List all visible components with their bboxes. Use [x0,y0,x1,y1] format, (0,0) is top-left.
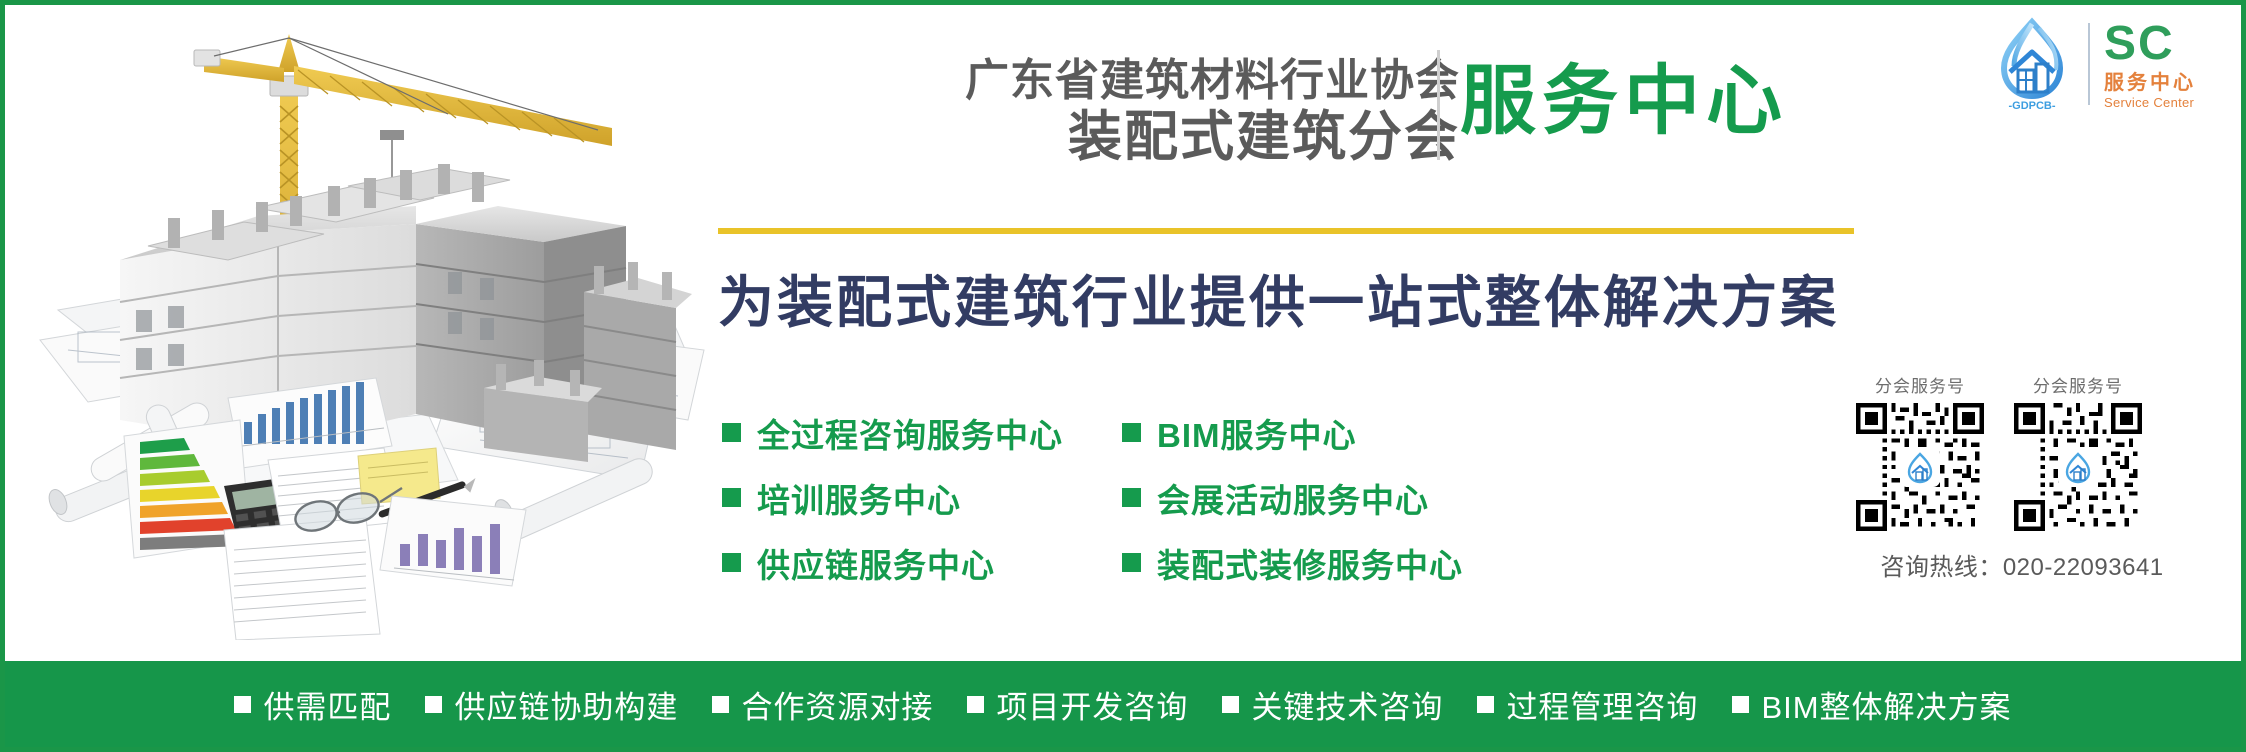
gdpcb-flame-house-logo-icon: -GDPCB- [1982,14,2082,114]
purple-chart-sheet [380,496,526,586]
service-item-label: 供应链服务中心 [757,539,995,587]
service-item-label: BIM服务中心 [1157,409,1357,457]
secondary-frame-tower [584,262,692,450]
footer-item-process-management[interactable]: 过程管理咨询 [1477,682,1698,727]
main-headline: 为装配式建筑行业提供一站式整体解决方案 [718,258,1839,339]
sc-english-label: Service Center [2104,96,2196,109]
square-bullet-icon [722,488,741,507]
service-item-bim[interactable]: BIM服务中心 [1122,409,1682,457]
square-bullet-icon [712,696,729,713]
gold-divider-rule [718,228,1854,234]
square-bullet-icon [1122,423,1141,442]
footer-item-label: 合作资源对接 [741,682,933,727]
title-vertical-divider [1437,50,1440,160]
qr-code-1[interactable] [1856,403,1984,531]
footer-item-label: 供应链协助构建 [454,682,678,727]
service-row: 培训服务中心 会展活动服务中心 [722,465,1782,530]
service-center-list: 全过程咨询服务中心 BIM服务中心 培训服务中心 会展活动服务中心 供应链服务中… [722,400,1782,595]
frame-top-border [0,0,2246,5]
square-bullet-icon [425,696,442,713]
association-title-block: 广东省建筑材料行业协会 装配式建筑分会 [840,58,1460,168]
service-item-full-process[interactable]: 全过程咨询服务中心 [722,409,1122,457]
logo-divider [2088,23,2090,105]
brand-logo-group: -GDPCB- SC 服务中心 Service Center [1982,14,2228,114]
frame-left-border [0,0,5,752]
footer-item-label: 过程管理咨询 [1506,682,1698,727]
footer-item-supply-demand-match[interactable]: 供需匹配 [234,682,391,727]
qr-code-2[interactable] [2014,403,2142,531]
footer-item-label: 关键技术咨询 [1251,682,1443,727]
square-bullet-icon [722,423,741,442]
service-item-label: 全过程咨询服务中心 [757,409,1063,457]
association-branch-name: 装配式建筑分会 [840,108,1460,167]
service-center-heading: 服务中心 [1460,58,1788,145]
square-bullet-icon [1732,696,1749,713]
construction-illustration [28,10,708,640]
sc-initials: SC [2104,20,2196,68]
service-item-training[interactable]: 培训服务中心 [722,474,1122,522]
service-item-prefab-decoration[interactable]: 装配式装修服务中心 [1122,539,1682,587]
promo-banner: 广东省建筑材料行业协会 装配式建筑分会 服务中心 为装配式建筑行业提供一站式整体… [0,0,2246,752]
frame-bottom-border [0,747,2246,752]
square-bullet-icon [1122,488,1141,507]
square-bullet-icon [967,696,984,713]
footer-items-list: 供需匹配 供应链协助构建 合作资源对接 项目开发咨询 关键技术咨询 过程管理咨询 [234,682,2011,727]
qr-images [1842,403,2202,531]
service-row: 全过程咨询服务中心 BIM服务中心 [722,400,1782,465]
service-row: 供应链服务中心 装配式装修服务中心 [722,530,1782,595]
frame-right-border [2241,0,2246,752]
service-item-exhibition[interactable]: 会展活动服务中心 [1122,474,1682,522]
service-item-label: 会展活动服务中心 [1157,474,1429,522]
footer-item-label: 供需匹配 [263,682,391,727]
square-bullet-icon [1477,696,1494,713]
qr-contact-block: 分会服务号 分会服务号 [1842,372,2202,582]
square-bullet-icon [1222,696,1239,713]
footer-item-label: 项目开发咨询 [996,682,1188,727]
service-item-supply-chain[interactable]: 供应链服务中心 [722,539,1122,587]
service-item-label: 培训服务中心 [757,474,961,522]
service-item-label: 装配式装修服务中心 [1157,539,1463,587]
qr-caption-2: 分会服务号 [2014,372,2142,397]
footer-service-bar: 供需匹配 供应链协助构建 合作资源对接 项目开发咨询 关键技术咨询 过程管理咨询 [5,661,2241,747]
footer-item-project-development[interactable]: 项目开发咨询 [967,682,1188,727]
footer-item-label: BIM整体解决方案 [1761,682,2011,727]
footer-item-key-technology[interactable]: 关键技术咨询 [1222,682,1443,727]
hotline-text: 咨询热线：020-22093641 [1842,547,2202,582]
sc-logotype: SC 服务中心 Service Center [2104,20,2196,109]
association-name: 广东省建筑材料行业协会 [840,58,1460,104]
qr-embedded-logo-icon [1902,449,1938,485]
square-bullet-icon [234,696,251,713]
square-bullet-icon [1122,553,1141,572]
footer-item-resource-matching[interactable]: 合作资源对接 [712,682,933,727]
qr-embedded-logo-icon [2060,449,2096,485]
qr-caption-1: 分会服务号 [1856,372,1984,397]
footer-item-bim-solution[interactable]: BIM整体解决方案 [1732,682,2011,727]
sc-chinese-label: 服务中心 [2104,73,2196,93]
gdpcb-wordmark: -GDPCB- [2008,100,2055,112]
qr-captions: 分会服务号 分会服务号 [1842,372,2202,397]
square-bullet-icon [722,553,741,572]
footer-item-supply-chain-build[interactable]: 供应链协助构建 [425,682,678,727]
